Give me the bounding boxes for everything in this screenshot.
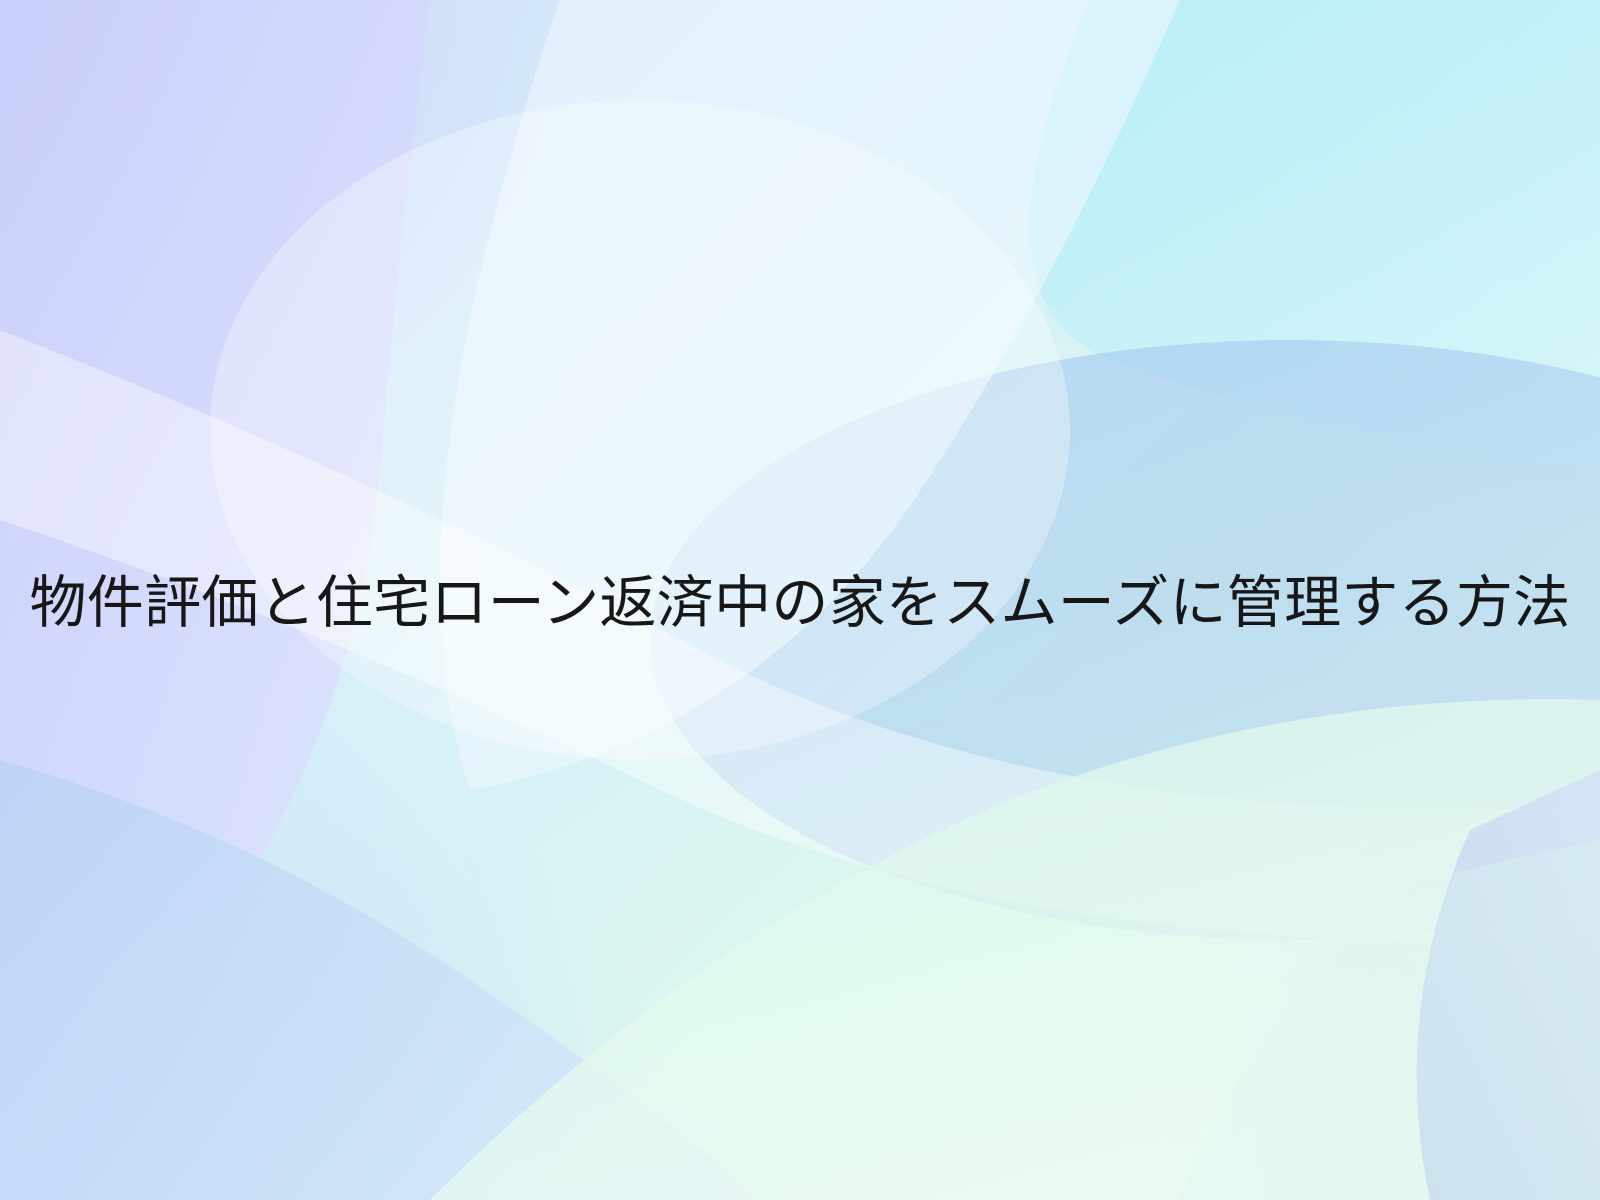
title-block: 物件評価と住宅ローン返済中の家をスムーズに管理する方法: [0, 0, 1600, 1200]
page-title: 物件評価と住宅ローン返済中の家をスムーズに管理する方法: [30, 568, 1571, 639]
title-slide: 物件評価と住宅ローン返済中の家をスムーズに管理する方法: [0, 0, 1600, 1200]
